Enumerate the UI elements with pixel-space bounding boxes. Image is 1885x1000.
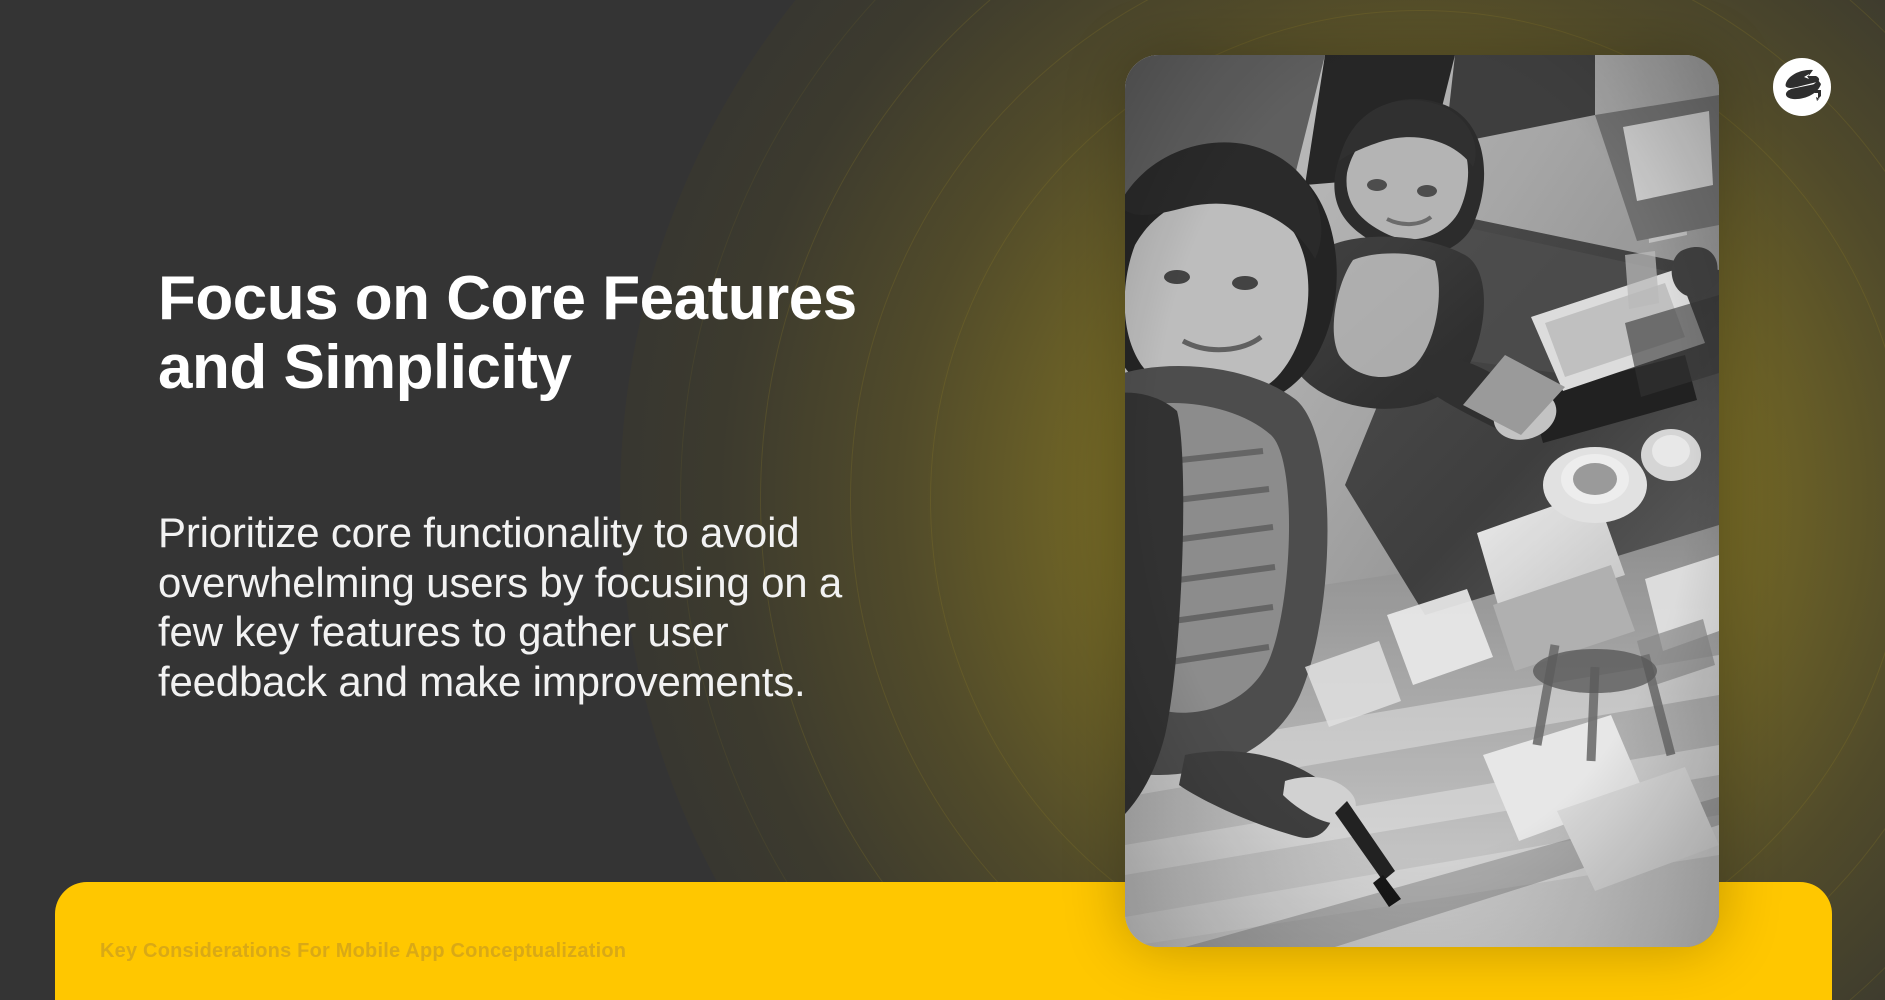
text-column: Focus on Core Features and Simplicity Pr… [158, 0, 978, 1000]
footer-caption: Key Considerations For Mobile App Concep… [100, 940, 626, 963]
body-line-1: Prioritize core functionality to avoid [158, 508, 1038, 558]
page-title: Focus on Core Features and Simplicity [158, 264, 958, 403]
slide-root: Focus on Core Features and Simplicity Pr… [0, 0, 1885, 1000]
photo-card [1125, 55, 1719, 947]
body-line-2: overwhelming users by focusing on a [158, 558, 1038, 608]
brand-logo[interactable] [1771, 56, 1833, 118]
headline-line-2: and Simplicity [158, 333, 958, 402]
body-line-3: few key features to gather user [158, 607, 1038, 657]
headline-line-1: Focus on Core Features [158, 264, 958, 333]
body-paragraph: Prioritize core functionality to avoid o… [158, 508, 1038, 706]
meeting-photo [1125, 55, 1719, 947]
brand-logo-icon [1771, 56, 1833, 118]
body-line-4: feedback and make improvements. [158, 657, 1038, 707]
